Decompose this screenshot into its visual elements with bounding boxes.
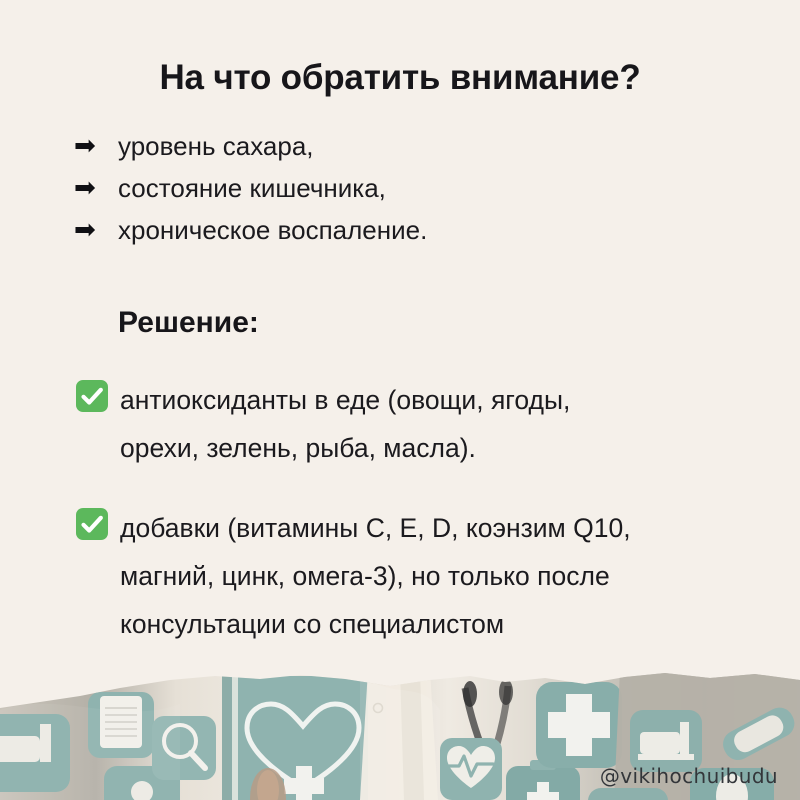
arrow-right-icon: ➡ [74, 126, 118, 166]
check-mark-icon [76, 380, 108, 412]
arrow-right-icon: ➡ [74, 168, 118, 208]
list-item-label: уровень сахара, [118, 126, 314, 166]
solution-list: антиоксиданты в еде (овощи, ягоды, орехи… [76, 376, 766, 680]
list-item-label: хроническое воспаление. [118, 210, 427, 250]
text-line: магний, цинк, омега-3), но только после [120, 552, 766, 600]
list-item-label: добавки (витамины C, E, D, коэнзим Q10, … [120, 504, 766, 648]
list-item: ➡ хроническое воспаление. [74, 210, 734, 252]
list-item: ➡ состояние кишечника, [74, 168, 734, 210]
list-item: ➡ уровень сахара, [74, 126, 734, 168]
arrow-right-icon: ➡ [74, 210, 118, 250]
list-item-label: состояние кишечника, [118, 168, 386, 208]
bottom-photo-band: @vikihochuibudu [0, 670, 800, 800]
text-line: антиоксиданты в еде (овощи, ягоды, [120, 376, 766, 424]
list-item: добавки (витамины C, E, D, коэнзим Q10, … [76, 504, 766, 648]
page-title: На что обратить внимание? [0, 58, 800, 98]
list-item-label: антиоксиданты в еде (овощи, ягоды, орехи… [120, 376, 766, 472]
text-line: орехи, зелень, рыба, масла). [120, 424, 766, 472]
text-line: консультации со специалистом [120, 600, 766, 648]
check-mark-icon [76, 508, 108, 540]
account-handle: @vikihochuibudu [600, 764, 778, 788]
list-item: антиоксиданты в еде (овощи, ягоды, орехи… [76, 376, 766, 472]
solution-heading: Решение: [118, 306, 259, 340]
text-line: добавки (витамины C, E, D, коэнзим Q10, [120, 504, 766, 552]
infographic-card: На что обратить внимание? ➡ уровень саха… [0, 0, 800, 800]
attention-list: ➡ уровень сахара, ➡ состояние кишечника,… [74, 126, 734, 252]
